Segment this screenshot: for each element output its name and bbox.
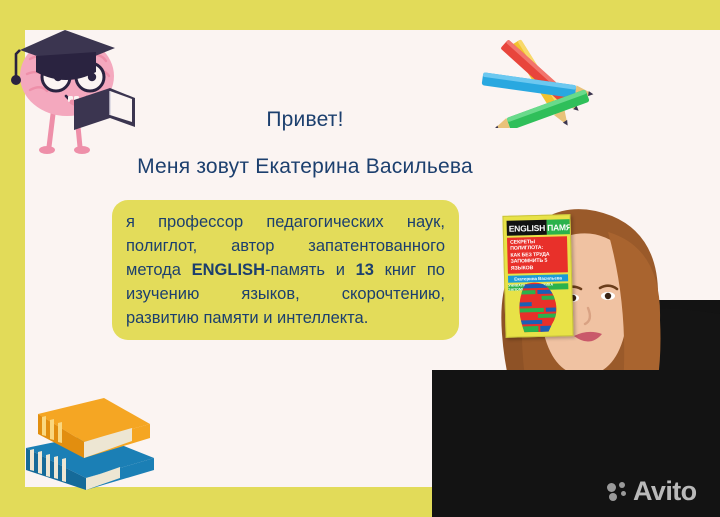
- method-name: ENGLISH: [192, 261, 265, 279]
- avito-dots-icon: [607, 482, 628, 501]
- bio-line-3-a: метода: [126, 261, 192, 279]
- woman-holding-book-photo: [432, 120, 720, 517]
- book-subtitle-block: СЕКРЕТЫ ПОЛИГЛОТА: КАК БЕЗ ТРУДА ЗАПОМНИ…: [507, 236, 568, 274]
- bio-line-5: развитию памяти и интеллекта.: [126, 306, 445, 330]
- book-cover-english-pamyat: ENGLISH ПАМЯТЬ СЕКРЕТЫ ПОЛИГЛОТА: КАК БЕ…: [502, 214, 573, 338]
- book-title-en: ENGLISH: [507, 220, 548, 236]
- bio-line-3-c: -память и: [265, 261, 356, 279]
- book-subtitle-3: ЗАПОМНИТЬ 5 ЯЗЫКОВ: [511, 258, 565, 272]
- book-title-row: ENGLISH ПАМЯТЬ: [507, 219, 567, 236]
- brain-graduate-reading-icon: [2, 14, 142, 164]
- book-count: 13: [356, 261, 374, 279]
- book-title-ru: ПАМЯТЬ: [547, 219, 574, 235]
- bio-line-3: метода ENGLISH-память и 13 книг по: [126, 258, 445, 282]
- greeting-line-1: Привет!: [130, 108, 480, 132]
- bio-line-4: изучению языков, скорочтению,: [126, 282, 445, 306]
- bio-line-2: полиглот, автор запатентованного: [126, 234, 445, 258]
- bio-speech-bubble: я профессор педагогических наук, полигло…: [112, 200, 459, 340]
- bio-line-1: я профессор педагогических наук,: [126, 210, 445, 234]
- ad-card: Привет! Меня зовут Екатерина Васильева я…: [0, 0, 720, 517]
- colored-pencils-icon: [468, 28, 608, 128]
- avito-watermark: Avito: [607, 478, 697, 505]
- avito-wordmark: Avito: [633, 478, 697, 505]
- stacked-books-icon: [8, 386, 158, 501]
- book-head-graphic-icon: [511, 277, 566, 332]
